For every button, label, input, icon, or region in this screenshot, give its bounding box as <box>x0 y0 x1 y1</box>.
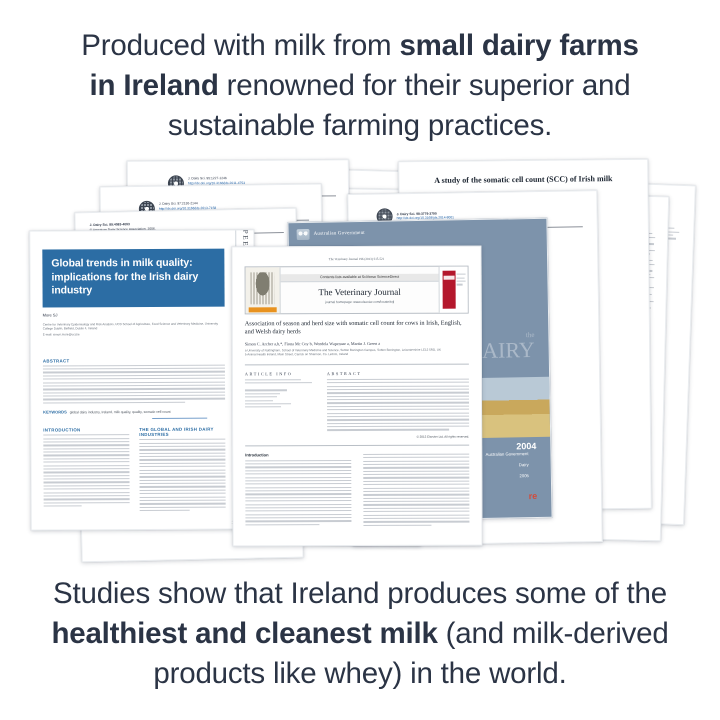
headline-text: Produced with milk from small dairy farm… <box>0 26 720 146</box>
sciencedirect-bar: Contents lists available at SciVerse Sci… <box>281 273 439 282</box>
text-run: (and milk-derived <box>438 617 669 650</box>
intro-heading: Introduction <box>245 452 351 457</box>
text-run: products like whey) in the world. <box>153 657 566 690</box>
scc-paper-title: A study of the somatic cell count (SCC) … <box>399 160 647 186</box>
article-abstract-column: ABSTRACT © 2013 Elsevier Ltd. All rights… <box>327 370 469 438</box>
headline-line-1: Produced with milk from small dairy farm… <box>0 26 720 66</box>
intro-column: Introduction <box>245 452 351 529</box>
paper-author: More SJ <box>43 311 225 317</box>
industries-column: THE GLOBAL AND IRISH DAIRY INDUSTRIES <box>139 427 225 514</box>
footline-line-1: Studies show that Ireland produces some … <box>0 574 720 614</box>
journal-cover-thumb <box>439 267 468 313</box>
gov-emblem-label: Australian Government <box>314 231 365 237</box>
intro-column: INTRODUCTION <box>43 427 129 514</box>
left-front-paper: PEER REVIEWED Global trends in milk qual… <box>29 229 256 530</box>
article-info-heading: ARTICLE INFO <box>245 371 315 376</box>
keywords-label: KEYWORDS <box>43 409 67 414</box>
text-run: renowned for their superior and <box>219 69 631 102</box>
copyright-line: © 2013 Elsevier Ltd. All rights reserved… <box>327 434 469 438</box>
body-column-2 <box>363 451 469 528</box>
right-front-paper: The Veterinary Journal 196 (2013) 515-52… <box>231 246 482 547</box>
elsevier-tree-logo <box>246 267 281 313</box>
footline-line-3: products like whey) in the world. <box>0 654 720 694</box>
footline-line-2: healthiest and cleanest milk (and milk-d… <box>0 614 720 654</box>
article-authors: Simon C. Archer a,b,*, Fiona Mc Coy b, W… <box>245 340 469 346</box>
paper-title-banner: Global trends in milk quality: implicati… <box>42 249 224 307</box>
headline-line-3: sustainable farming practices. <box>0 106 720 146</box>
section2-heading: THE GLOBAL AND IRISH DAIRY INDUSTRIES <box>139 427 225 437</box>
keywords-value: global dairy industry, Ireland, milk qua… <box>70 410 171 415</box>
promo-graphic: Produced with milk from small dairy farm… <box>0 0 720 720</box>
article-title: Association of season and herd size with… <box>245 320 469 338</box>
running-head: The Veterinary Journal 196 (2013) 515-52… <box>245 257 469 262</box>
report-footer-mark: re <box>529 491 538 501</box>
paper-affiliation: Centre for Veterinary Epidemiology and R… <box>43 321 225 330</box>
abstract-body <box>43 364 225 403</box>
intro-heading: INTRODUCTION <box>43 427 129 432</box>
emphasis-run: small dairy farms <box>399 29 638 62</box>
emphasis-run: healthiest and cleanest milk <box>51 617 437 650</box>
article-info-column: ARTICLE INFO <box>245 371 315 439</box>
headline-line-2: in Ireland renowned for their superior a… <box>0 66 720 106</box>
journal-header-block: Contents lists available at SciVerse Sci… <box>245 266 469 315</box>
report-footer-c: 2005 <box>478 470 537 482</box>
abstract-heading: ABSTRACT <box>327 370 469 375</box>
emphasis-run: in Ireland <box>90 69 219 102</box>
paper-stacks: J. Dairy Sci. 95:1227-1246 http://dx.doi… <box>0 160 720 570</box>
abstract-heading: ABSTRACT <box>43 357 225 363</box>
paper-email: E-mail: simon.more@ucd.ie <box>43 331 225 336</box>
journal-homepage: journal homepage: www.elsevier.com/locat… <box>325 299 394 306</box>
journal-name: The Veterinary Journal <box>318 281 400 299</box>
commonwealth-crest-icon <box>297 229 310 240</box>
footer-text: Studies show that Ireland produces some … <box>0 574 720 694</box>
text-run: sustainable farming practices. <box>168 109 552 142</box>
text-run: Produced with milk from <box>81 29 399 62</box>
text-run: Studies show that Ireland produces some … <box>53 577 667 610</box>
article-affiliations: a University of Nottingham, School of Ve… <box>245 347 469 356</box>
